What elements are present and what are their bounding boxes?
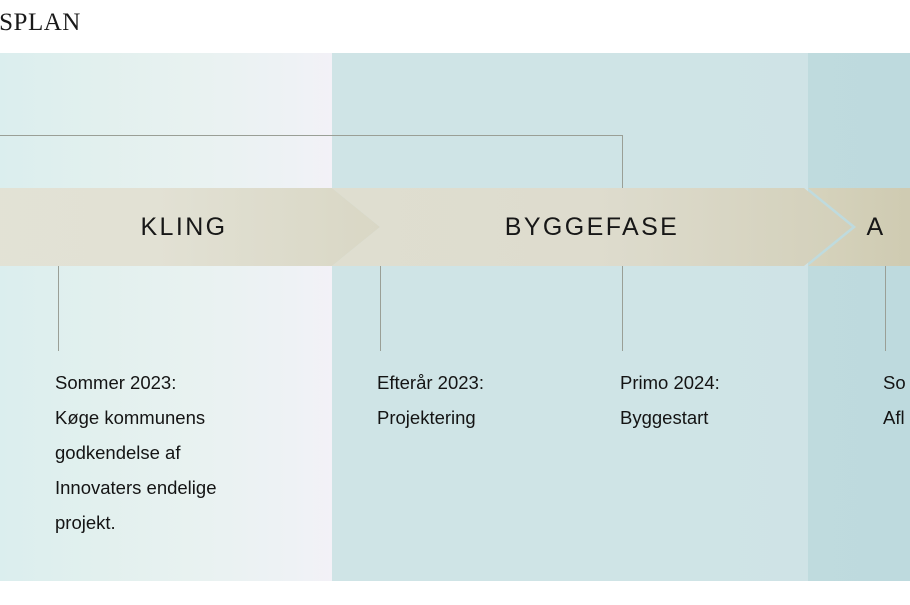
page-title: TIDSPLAN — [0, 9, 81, 37]
phase-arrow-byggefase: BYGGEFASE — [332, 188, 852, 266]
phase-column-aflevering — [808, 53, 910, 581]
timeline-diagram: KLING BYGGEFASE A Sommer 2023: Køge komm… — [0, 0, 910, 605]
connector-line-horizontal — [0, 135, 623, 136]
connector-line-milestone-2 — [380, 265, 381, 351]
milestone-text-4: So Afl — [883, 365, 910, 435]
phase-column-byggefase — [332, 53, 808, 581]
phase-label-byggefase: BYGGEFASE — [505, 213, 679, 242]
phase-label-udvikling: KLING — [140, 213, 227, 242]
bottom-margin — [0, 581, 910, 605]
phase-arrow-band: KLING BYGGEFASE A — [0, 188, 910, 266]
milestone-text-3: Primo 2024: Byggestart — [620, 365, 820, 435]
connector-line-milestone-1 — [58, 265, 59, 351]
milestone-text-2: Efterår 2023: Projektering — [377, 365, 592, 435]
milestone-text-1: Sommer 2023: Køge kommunens godkendelse … — [55, 365, 295, 540]
connector-line-milestone-4 — [885, 265, 886, 351]
title-strip: TIDSPLAN — [0, 0, 910, 53]
phase-label-aflevering: A — [866, 213, 885, 242]
phase-arrow-udvikling: KLING — [0, 188, 380, 266]
